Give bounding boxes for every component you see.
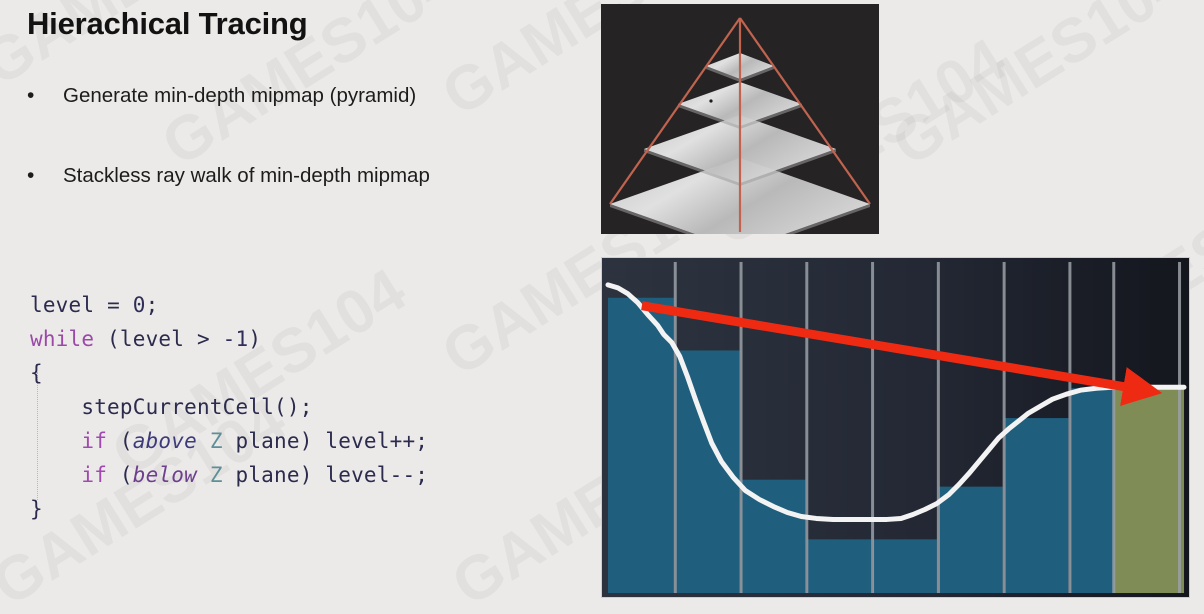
bullet-text: Stackless ray walk of min-depth mipmap [63, 162, 430, 190]
code-token: Z [210, 463, 223, 487]
code-token: > [197, 327, 210, 351]
code-token: while [30, 327, 94, 351]
hiz-ray-walk-diagram [601, 257, 1190, 598]
code-token: ++; [390, 429, 429, 453]
code-token: ) [248, 327, 261, 351]
code-token [197, 463, 210, 487]
code-token: stepCurrentCell [81, 395, 274, 419]
code-token: 0 [133, 293, 146, 317]
bullet-list: • Generate min-depth mipmap (pyramid) • … [27, 82, 587, 242]
code-token: ( [107, 429, 133, 453]
code-line: } [30, 492, 428, 526]
code-token [30, 429, 81, 453]
code-token: (); [274, 395, 313, 419]
hiz-column-divider [937, 262, 940, 593]
code-line: if (above Z plane) level++; [30, 424, 428, 458]
code-token: ) [300, 429, 326, 453]
hiz-column-divider [805, 262, 808, 593]
code-token: above [133, 429, 197, 453]
code-token: if [81, 429, 107, 453]
code-token: --; [390, 463, 429, 487]
list-item: • Stackless ray walk of min-depth mipmap [27, 162, 587, 190]
hiz-column-divider [1068, 262, 1071, 593]
code-token [30, 395, 81, 419]
hiz-cell [939, 487, 1003, 593]
code-token [120, 293, 133, 317]
code-token: ) [300, 463, 326, 487]
hiz-column-divider [1112, 262, 1115, 593]
code-token: -1 [223, 327, 249, 351]
hiz-cell [608, 298, 674, 593]
hiz-column-divider [871, 262, 874, 593]
code-token: ( [94, 327, 120, 351]
watermark-text: GAMES104 [880, 0, 1198, 180]
code-token [210, 327, 223, 351]
surface-speck [709, 99, 712, 102]
code-token: if [81, 463, 107, 487]
code-token [223, 463, 236, 487]
bullet-marker-icon: • [27, 82, 63, 110]
hiz-ray-walk-svg [602, 258, 1189, 597]
hiz-column-divider [1003, 262, 1006, 593]
code-token [197, 429, 210, 453]
mipmap-pyramid-svg [601, 4, 879, 234]
mipmap-pyramid-image [601, 4, 879, 234]
code-token: ; [146, 293, 159, 317]
hiz-hit-cell [1114, 388, 1184, 593]
code-token: = [107, 293, 120, 317]
page-title: Hierachical Tracing [27, 6, 308, 42]
code-block: level = 0;while (level > -1){ stepCurren… [30, 288, 428, 526]
code-token [94, 293, 107, 317]
code-token: Z [210, 429, 223, 453]
bullet-marker-icon: • [27, 162, 63, 190]
slide-left-column: Hierachical Tracing • Generate min-depth… [0, 0, 600, 614]
hiz-cell [1005, 418, 1069, 593]
code-token [30, 463, 81, 487]
code-token: level [30, 293, 94, 317]
code-line: stepCurrentCell(); [30, 390, 428, 424]
code-line: { [30, 356, 428, 390]
hiz-column-divider [740, 262, 743, 593]
code-token: level [325, 429, 389, 453]
code-token [184, 327, 197, 351]
code-token: } [30, 497, 43, 521]
code-token: level [325, 463, 389, 487]
code-token: ( [107, 463, 133, 487]
hiz-cell [873, 539, 937, 593]
list-item: • Generate min-depth mipmap (pyramid) [27, 82, 587, 110]
code-token: plane [236, 463, 300, 487]
hiz-column-divider [1178, 262, 1181, 593]
code-line: if (below Z plane) level--; [30, 458, 428, 492]
bullet-text: Generate min-depth mipmap (pyramid) [63, 82, 416, 110]
code-token: level [120, 327, 184, 351]
hiz-cell [807, 539, 871, 593]
code-token: below [133, 463, 197, 487]
code-token: { [30, 361, 43, 385]
code-line: while (level > -1) [30, 322, 428, 356]
code-token: plane [236, 429, 300, 453]
code-line: level = 0; [30, 288, 428, 322]
code-token [223, 429, 236, 453]
